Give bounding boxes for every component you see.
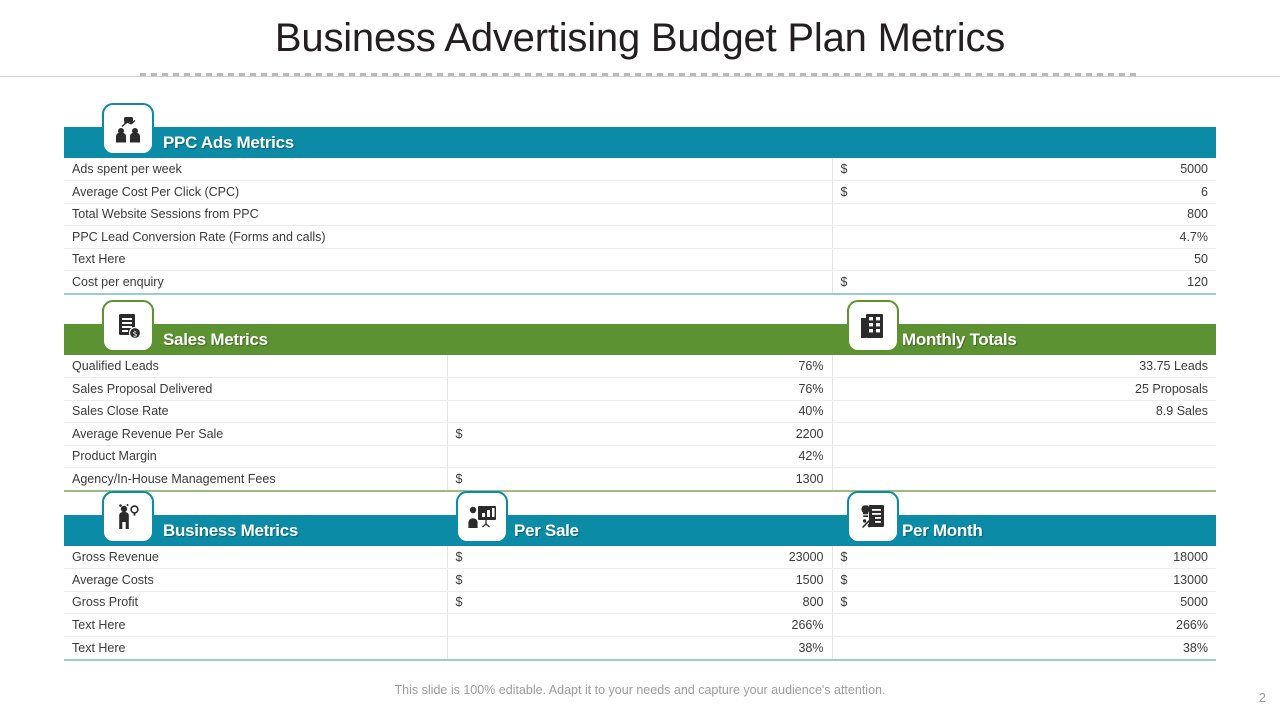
row-value-2: 33.75 Leads <box>856 355 1216 378</box>
row-value-2: 18000 <box>856 546 1216 569</box>
row-label: Total Website Sessions from PPC <box>64 203 832 226</box>
section-title-per-sale: Per Sale <box>514 521 579 541</box>
row-label: Average Costs <box>64 569 447 592</box>
section-title-per-month: Per Month <box>902 521 982 541</box>
table-row: PPC Lead Conversion Rate (Forms and call… <box>64 226 1216 249</box>
document-bulb-percent-icon <box>847 491 899 543</box>
section-header-band-business: Business Metrics <box>64 515 1216 546</box>
row-value-2: 8.9 Sales <box>856 400 1216 423</box>
row-label: PPC Lead Conversion Rate (Forms and call… <box>64 226 832 249</box>
row-currency-2: $ <box>832 569 856 592</box>
row-value: 800 <box>471 591 832 614</box>
row-label: Text Here <box>64 248 832 271</box>
table-row: Average Cost Per Click (CPC) $ 6 <box>64 181 1216 204</box>
row-currency <box>447 636 471 659</box>
invoice-dollar-icon: $ <box>102 300 154 352</box>
table-row: Product Margin 42% <box>64 445 1216 468</box>
row-label: Text Here <box>64 614 447 637</box>
section-header-band-ppc: PPC Ads Metrics <box>64 127 1216 158</box>
row-label: Product Margin <box>64 445 447 468</box>
slide-title-bar: Business Advertising Budget Plan Metrics <box>0 0 1280 76</box>
row-value: 76% <box>471 355 832 378</box>
row-currency: $ <box>832 181 856 204</box>
row-currency: $ <box>447 423 471 446</box>
section-business-metrics: Business Metrics <box>64 515 1216 661</box>
row-currency <box>447 445 471 468</box>
row-value: 23000 <box>471 546 832 569</box>
row-currency-2 <box>832 423 856 446</box>
row-currency-2 <box>832 636 856 659</box>
section-title-sales: Sales Metrics <box>163 330 268 350</box>
row-label: Text Here <box>64 636 447 659</box>
row-currency <box>447 378 471 401</box>
row-value: 800 <box>856 203 1216 226</box>
row-value: 42% <box>471 445 832 468</box>
row-label: Qualified Leads <box>64 355 447 378</box>
row-label: Gross Revenue <box>64 546 447 569</box>
section-title-business: Business Metrics <box>163 521 298 541</box>
section-bottom-rule <box>64 659 1216 661</box>
row-currency-2 <box>832 468 856 491</box>
row-value: 2200 <box>471 423 832 446</box>
svg-text:$: $ <box>133 329 138 338</box>
section-title-monthly-totals: Monthly Totals <box>902 330 1016 350</box>
row-value-2: 38% <box>856 636 1216 659</box>
table-row: Gross Revenue $ 23000 $ 18000 <box>64 546 1216 569</box>
row-value: 4.7% <box>856 226 1216 249</box>
table-row: Average Revenue Per Sale $ 2200 <box>64 423 1216 446</box>
row-currency <box>832 248 856 271</box>
row-value-2: 13000 <box>856 569 1216 592</box>
row-value-2: 266% <box>856 614 1216 637</box>
row-value-2: 25 Proposals <box>856 378 1216 401</box>
table-row: Average Costs $ 1500 $ 13000 <box>64 569 1216 592</box>
row-label: Ads spent per week <box>64 158 832 181</box>
table-row: Cost per enquiry $ 120 <box>64 271 1216 294</box>
table-row: Sales Close Rate 40% 8.9 Sales <box>64 400 1216 423</box>
section-bottom-rule <box>64 293 1216 295</box>
row-value: 50 <box>856 248 1216 271</box>
footer-note: This slide is 100% editable. Adapt it to… <box>0 683 1280 697</box>
row-value-2: 5000 <box>856 591 1216 614</box>
presenter-chart-icon <box>456 491 508 543</box>
page-title: Business Advertising Budget Plan Metrics <box>275 16 1005 61</box>
row-currency: $ <box>447 546 471 569</box>
title-divider <box>0 76 1280 77</box>
row-currency <box>832 203 856 226</box>
table-business-metrics: Gross Revenue $ 23000 $ 18000 Average Co… <box>64 546 1216 659</box>
table-row: Agency/In-House Management Fees $ 1300 <box>64 468 1216 491</box>
row-label: Average Cost Per Click (CPC) <box>64 181 832 204</box>
table-row: Sales Proposal Delivered 76% 25 Proposal… <box>64 378 1216 401</box>
row-currency <box>447 614 471 637</box>
table-ppc-metrics: Ads spent per week $ 5000 Average Cost P… <box>64 158 1216 293</box>
table-row: Text Here 266% 266% <box>64 614 1216 637</box>
table-row: Text Here 50 <box>64 248 1216 271</box>
row-label: Agency/In-House Management Fees <box>64 468 447 491</box>
section-header-band-sales: $ Sales Metrics <box>64 324 1216 355</box>
row-currency <box>447 355 471 378</box>
row-currency-2: $ <box>832 591 856 614</box>
section-ppc-ads-metrics: PPC Ads Metrics Ads spent per week $ 500… <box>64 127 1216 295</box>
row-currency: $ <box>832 271 856 294</box>
handshake-people-icon <box>102 103 154 155</box>
row-value: 1500 <box>471 569 832 592</box>
table-body-sales: Qualified Leads 76% 33.75 Leads Sales Pr… <box>64 355 1216 490</box>
row-value: 1300 <box>471 468 832 491</box>
row-currency-2 <box>832 614 856 637</box>
row-label: Sales Proposal Delivered <box>64 378 447 401</box>
row-currency <box>832 226 856 249</box>
table-body-business: Gross Revenue $ 23000 $ 18000 Average Co… <box>64 546 1216 659</box>
table-row: Ads spent per week $ 5000 <box>64 158 1216 181</box>
page-number: 2 <box>1259 690 1266 705</box>
row-label: Gross Profit <box>64 591 447 614</box>
row-value: 76% <box>471 378 832 401</box>
table-row: Gross Profit $ 800 $ 5000 <box>64 591 1216 614</box>
table-sales-metrics: Qualified Leads 76% 33.75 Leads Sales Pr… <box>64 355 1216 490</box>
table-row: Total Website Sessions from PPC 800 <box>64 203 1216 226</box>
row-label: Sales Close Rate <box>64 400 447 423</box>
row-label: Cost per enquiry <box>64 271 832 294</box>
row-value-2 <box>856 423 1216 446</box>
row-currency-2 <box>832 445 856 468</box>
table-body-ppc: Ads spent per week $ 5000 Average Cost P… <box>64 158 1216 293</box>
row-currency: $ <box>832 158 856 181</box>
row-currency: $ <box>447 468 471 491</box>
row-currency-2: $ <box>832 546 856 569</box>
slide-canvas: Business Advertising Budget Plan Metrics <box>0 0 1280 720</box>
row-value-2 <box>856 445 1216 468</box>
row-value: 6 <box>856 181 1216 204</box>
row-value: 40% <box>471 400 832 423</box>
row-currency-2 <box>832 378 856 401</box>
row-value: 5000 <box>856 158 1216 181</box>
row-value: 266% <box>471 614 832 637</box>
section-sales-metrics: $ Sales Metrics <box>64 324 1216 492</box>
table-row: Qualified Leads 76% 33.75 Leads <box>64 355 1216 378</box>
row-currency <box>447 400 471 423</box>
row-currency: $ <box>447 591 471 614</box>
row-currency-2 <box>832 355 856 378</box>
row-value: 120 <box>856 271 1216 294</box>
row-currency-2 <box>832 400 856 423</box>
section-title-ppc: PPC Ads Metrics <box>163 133 294 153</box>
building-grid-icon <box>847 300 899 352</box>
row-label: Average Revenue Per Sale <box>64 423 447 446</box>
section-bottom-rule <box>64 490 1216 492</box>
row-currency: $ <box>447 569 471 592</box>
businessperson-idea-icon <box>102 491 154 543</box>
row-value-2 <box>856 468 1216 491</box>
table-row: Text Here 38% 38% <box>64 636 1216 659</box>
row-value: 38% <box>471 636 832 659</box>
